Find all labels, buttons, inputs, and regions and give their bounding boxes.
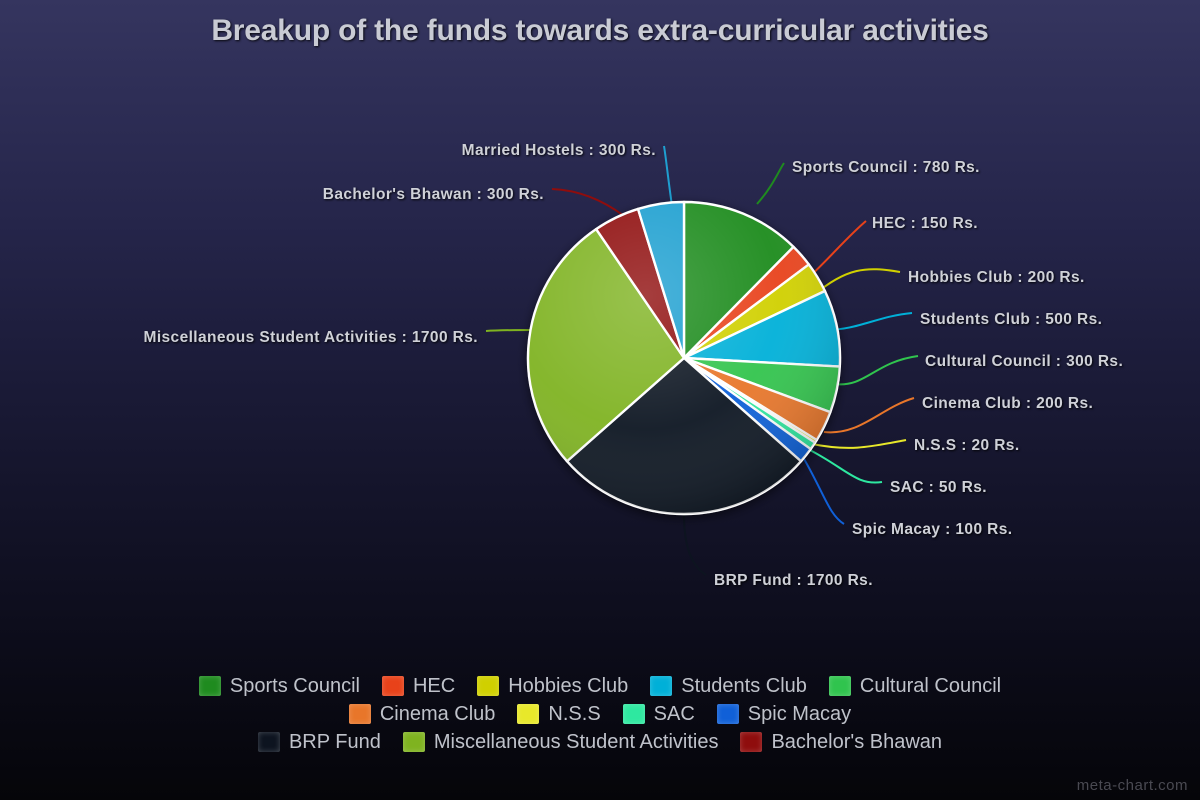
legend-swatch-cultural-council [829, 676, 851, 696]
legend-row-3: BRP FundMiscellaneous Student Activities… [70, 728, 1130, 756]
legend-label-spic-macay: Spic Macay [748, 704, 851, 724]
leader-line-cinema-club [824, 398, 914, 432]
chart-legend: Sports CouncilHECHobbies ClubStudents Cl… [0, 672, 1200, 756]
watermark: meta-chart.com [1077, 777, 1188, 794]
leader-line-miscellaneous [486, 330, 536, 331]
leader-line-sac [806, 448, 882, 483]
legend-item-hobbies-club[interactable]: Hobbies Club [477, 672, 628, 700]
callout-label-bachelor-s-bhawan: Bachelor's Bhawan : 300 Rs. [0, 186, 544, 204]
callout-label-hec: HEC : 150 Rs. [872, 215, 978, 233]
leader-line-students-club [826, 313, 912, 330]
leader-line-sports-council [757, 163, 784, 204]
callout-label-hobbies-club: Hobbies Club : 200 Rs. [908, 269, 1085, 287]
legend-label-hec: HEC [413, 676, 455, 696]
legend-swatch-sac [623, 704, 645, 724]
legend-label-sports-council: Sports Council [230, 676, 360, 696]
callout-label-sports-council: Sports Council : 780 Rs. [792, 159, 980, 177]
legend-swatch-bachelor-s-bhawan [740, 732, 762, 752]
legend-item-cultural-council[interactable]: Cultural Council [829, 672, 1001, 700]
legend-item-bachelor-s-bhawan[interactable]: Bachelor's Bhawan [740, 728, 942, 756]
legend-swatch-hobbies-club [477, 676, 499, 696]
callout-label-n-s-s: N.S.S : 20 Rs. [914, 437, 1020, 455]
legend-label-bachelor-s-bhawan: Bachelor's Bhawan [771, 732, 942, 752]
legend-swatch-brp-fund [258, 732, 280, 752]
legend-label-cultural-council: Cultural Council [860, 676, 1001, 696]
leader-line-bachelors-bhawan [552, 189, 624, 216]
legend-label-brp-fund: BRP Fund [289, 732, 381, 752]
legend-label-cinema-club: Cinema Club [380, 704, 496, 724]
legend-label-sac: SAC [654, 704, 695, 724]
callout-label-brp-fund: BRP Fund : 1700 Rs. [714, 572, 873, 590]
callout-label-miscellaneous-student-activities: Miscellaneous Student Activities : 1700 … [0, 329, 478, 347]
legend-item-spic-macay[interactable]: Spic Macay [717, 700, 851, 728]
callout-label-students-club: Students Club : 500 Rs. [920, 311, 1102, 329]
legend-label-hobbies-club: Hobbies Club [508, 676, 628, 696]
legend-label-students-club: Students Club [681, 676, 807, 696]
legend-swatch-cinema-club [349, 704, 371, 724]
leader-line-hobbies-club [814, 269, 900, 295]
legend-item-hec[interactable]: HEC [382, 672, 455, 700]
legend-item-cinema-club[interactable]: Cinema Club [349, 700, 496, 728]
legend-row-2: Cinema ClubN.S.SSACSpic Macay [70, 700, 1130, 728]
legend-item-miscellaneous-student-activities[interactable]: Miscellaneous Student Activities [403, 728, 719, 756]
legend-swatch-miscellaneous-student-activities [403, 732, 425, 752]
legend-swatch-spic-macay [717, 704, 739, 724]
legend-item-students-club[interactable]: Students Club [650, 672, 807, 700]
leader-line-nss [812, 440, 906, 448]
callout-label-married-hostels: Married Hostels : 300 Rs. [0, 142, 656, 160]
legend-row-1: Sports CouncilHECHobbies ClubStudents Cl… [70, 672, 1130, 700]
legend-item-brp-fund[interactable]: BRP Fund [258, 728, 381, 756]
leader-line-spic-macay [800, 452, 844, 524]
callout-label-sac: SAC : 50 Rs. [890, 479, 987, 497]
leader-line-cultural-council [834, 356, 918, 384]
chart-canvas: Breakup of the funds towards extra-curri… [0, 0, 1200, 800]
legend-swatch-sports-council [199, 676, 221, 696]
legend-label-miscellaneous-student-activities: Miscellaneous Student Activities [434, 732, 719, 752]
callout-label-cultural-council: Cultural Council : 300 Rs. [925, 353, 1123, 371]
legend-item-sac[interactable]: SAC [623, 700, 695, 728]
legend-item-n-s-s[interactable]: N.S.S [517, 700, 600, 728]
pie-slices: Sports Council : 780 Rs.HEC : 150 Rs.Hob… [528, 202, 840, 514]
leader-line-brp-fund [684, 514, 706, 575]
legend-label-n-s-s: N.S.S [548, 704, 600, 724]
callout-label-spic-macay: Spic Macay : 100 Rs. [852, 521, 1013, 539]
legend-swatch-hec [382, 676, 404, 696]
legend-swatch-n-s-s [517, 704, 539, 724]
leader-line-married-hostels [664, 146, 672, 206]
legend-item-sports-council[interactable]: Sports Council [199, 672, 360, 700]
callout-label-cinema-club: Cinema Club : 200 Rs. [922, 395, 1093, 413]
legend-swatch-students-club [650, 676, 672, 696]
